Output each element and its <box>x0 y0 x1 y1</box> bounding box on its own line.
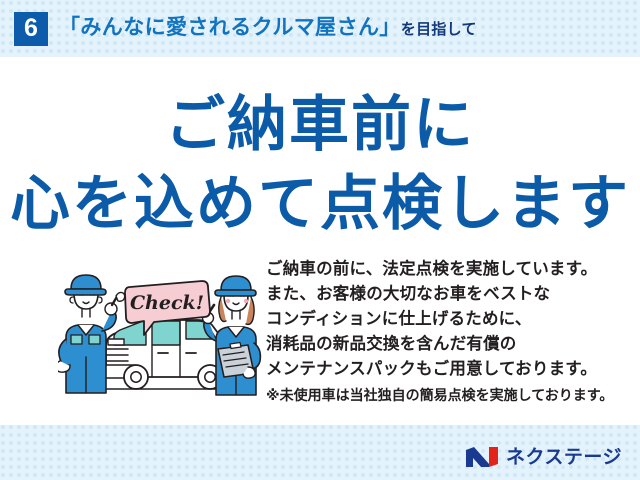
body-note: ※未使用車は当社独自の簡易点検を実施しております。 <box>266 384 626 407</box>
body-line: また、お客様の大切なお車をベストな <box>266 282 626 307</box>
brand-name: ネクステージ <box>506 448 622 467</box>
mechanics-illustration: Check! <box>58 265 263 400</box>
content-panel: ご納車前に 心を込めて点検します ご納車の前に、法定点検を実施しています。 また… <box>0 57 640 425</box>
step-number-badge: 6 <box>14 12 48 46</box>
body-copy: ご納車の前に、法定点検を実施しています。 また、お客様の大切なお車をベストな コ… <box>266 257 626 407</box>
headline-line-1: ご納車前に <box>0 95 640 155</box>
brand-logo: ネクステージ <box>465 446 622 468</box>
body-line: ご納車の前に、法定点検を実施しています。 <box>266 257 626 282</box>
header-title: 「みんなに愛されるクルマ屋さん」を目指して <box>59 17 477 40</box>
section-header: 6 「みんなに愛されるクルマ屋さん」を目指して <box>0 0 640 57</box>
body-line: コンディションに仕上げるために、 <box>266 307 626 332</box>
header-title-suffix: を目指して <box>401 21 477 38</box>
body-line: 消耗品の新品交換を含んだ有償の <box>266 332 626 357</box>
body-line: メンテナンスパックもご用意しております。 <box>266 357 626 382</box>
nexstage-n-icon <box>465 446 499 468</box>
headline-line-2: 心を込めて点検します <box>0 174 640 234</box>
page-background: 6 「みんなに愛されるクルマ屋さん」を目指して ご納車前に 心を込めて点検します… <box>0 0 640 480</box>
speech-bubble-text: Check! <box>130 292 204 314</box>
van-illustration <box>98 320 234 389</box>
header-title-main: 「みんなに愛されるクルマ屋さん」 <box>59 16 401 39</box>
